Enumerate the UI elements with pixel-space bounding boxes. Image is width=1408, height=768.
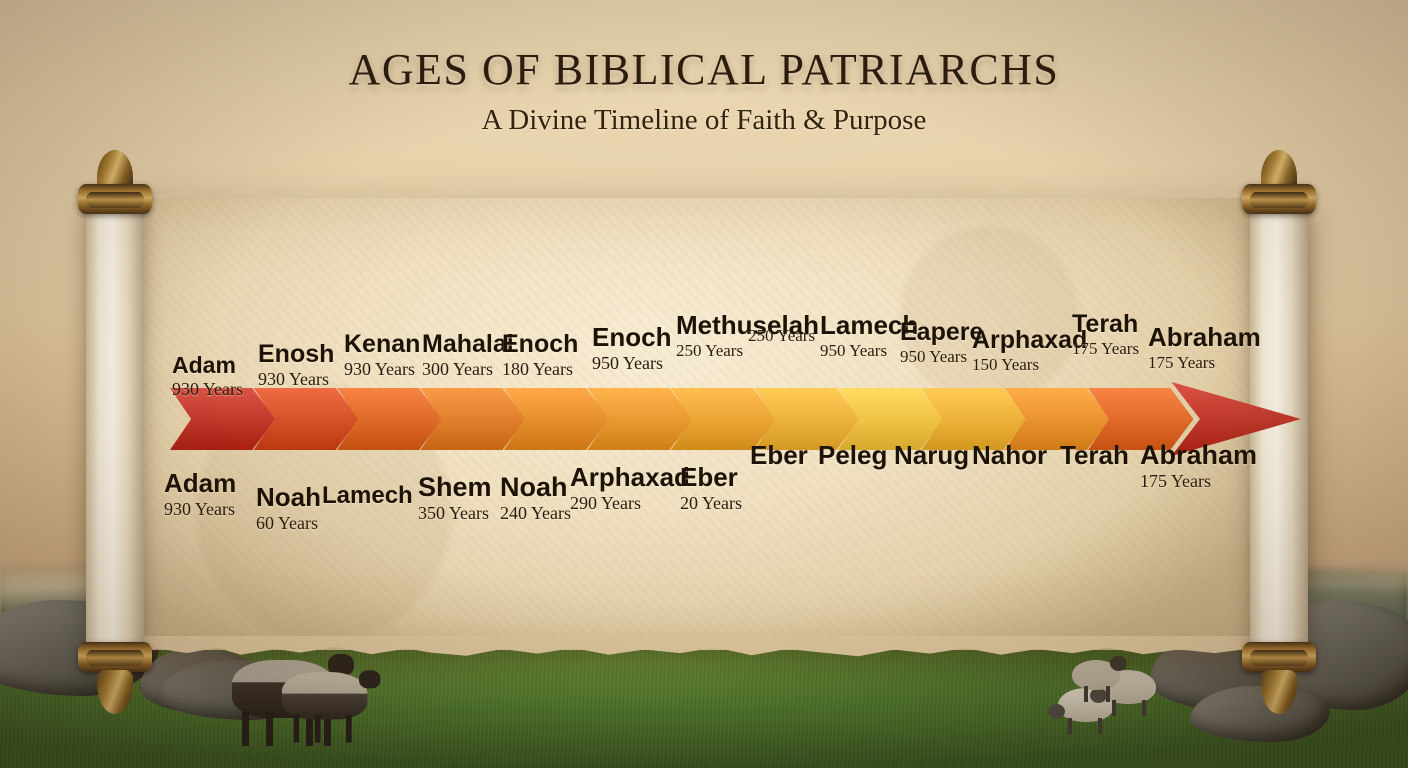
patriarch-years: 150 Years xyxy=(972,355,1087,375)
timeline-label-bottom: Noah240 Years xyxy=(500,472,571,524)
scroll-roll-paper-left xyxy=(86,212,144,652)
timeline-label-top: 250 Years xyxy=(748,326,815,346)
timeline-label-bottom: Terah xyxy=(1060,440,1129,471)
timeline-label-top: Kenan930 Years xyxy=(344,330,420,380)
parchment-torn-bottom-edge xyxy=(110,636,1298,662)
timeline-label-bottom: Shem350 Years xyxy=(418,472,492,524)
patriarch-name: Narug xyxy=(894,440,969,471)
patriarch-name: Adam xyxy=(172,352,243,379)
timeline-label-top: Abraham175 Years xyxy=(1148,322,1261,373)
patriarch-name: Mahalal xyxy=(422,330,514,359)
patriarch-years: 20 Years xyxy=(680,493,742,514)
patriarch-name: Terah xyxy=(1060,440,1129,471)
patriarch-years: 175 Years xyxy=(1148,353,1261,373)
page-title: AGES OF BIBLICAL PATRIARCHS xyxy=(0,44,1408,95)
patriarch-name: Enoch xyxy=(502,330,578,359)
timeline-label-bottom: Abraham175 Years xyxy=(1140,440,1257,492)
patriarch-name: Arphaxad xyxy=(972,326,1087,355)
patriarch-years: 930 Years xyxy=(344,359,420,380)
patriarch-name: Adam xyxy=(164,468,236,499)
timeline-label-top: Terah175 Years xyxy=(1072,310,1139,359)
patriarch-years: 60 Years xyxy=(256,513,321,534)
timeline-label-top: Enoch180 Years xyxy=(502,330,578,380)
timeline-label-bottom: Adam930 Years xyxy=(164,468,236,520)
patriarch-name: Arphaxad xyxy=(570,462,690,493)
patriarch-name: Peleg xyxy=(818,440,887,471)
patriarch-years: 950 Years xyxy=(592,353,671,374)
patriarch-years: 180 Years xyxy=(502,359,578,380)
timeline-label-bottom: Nahor xyxy=(972,440,1047,471)
page-subtitle: A Divine Timeline of Faith & Purpose xyxy=(0,104,1408,137)
timeline-label-top: Eapere950 Years xyxy=(900,318,983,367)
timeline-label-bottom: Peleg xyxy=(818,440,887,471)
poster-canvas: AGES OF BIBLICAL PATRIARCHS A Divine Tim… xyxy=(0,0,1408,768)
scroll-roller-left xyxy=(78,150,152,710)
timeline-label-bottom: Eber xyxy=(750,440,808,471)
patriarch-name: Enosh xyxy=(258,340,334,369)
patriarch-name: Nahor xyxy=(972,440,1047,471)
timeline-label-top: Adam930 Years xyxy=(172,352,243,400)
patriarch-years: 950 Years xyxy=(900,347,983,367)
patriarch-years: 290 Years xyxy=(570,493,690,514)
timeline-label-bottom: Noah60 Years xyxy=(256,482,321,534)
patriarch-name: Noah xyxy=(500,472,571,503)
patriarch-name: Abraham xyxy=(1148,322,1261,353)
patriarch-name: Terah xyxy=(1072,310,1139,339)
timeline-label-bottom: Eber20 Years xyxy=(680,462,742,514)
patriarch-years: 930 Years xyxy=(164,499,236,520)
patriarch-name: Kenan xyxy=(344,330,420,359)
timeline-label-bottom: Lamech xyxy=(322,482,413,510)
patriarch-years: 175 Years xyxy=(1072,339,1139,359)
timeline-label-bottom: Narug xyxy=(894,440,969,471)
timeline-label-top: Enosh930 Years xyxy=(258,340,334,390)
patriarch-name: Enoch xyxy=(592,322,671,353)
patriarch-name: Eber xyxy=(750,440,808,471)
patriarch-years: 350 Years xyxy=(418,503,492,524)
patriarch-years: 240 Years xyxy=(500,503,571,524)
timeline-label-bottom: Arphaxad290 Years xyxy=(570,462,690,514)
patriarch-years: 250 Years xyxy=(748,326,815,346)
patriarch-years: 175 Years xyxy=(1140,471,1257,492)
patriarch-name: Eber xyxy=(680,462,742,493)
patriarch-name: Eapere xyxy=(900,318,983,347)
patriarch-name: Shem xyxy=(418,472,492,503)
patriarch-years: 930 Years xyxy=(172,379,243,400)
patriarch-years: 930 Years xyxy=(258,369,334,390)
timeline-label-top: Enoch950 Years xyxy=(592,322,671,374)
patriarch-years: 300 Years xyxy=(422,359,514,380)
patriarch-name: Noah xyxy=(256,482,321,513)
patriarch-name: Lamech xyxy=(322,482,413,510)
timeline-label-top: Mahalal300 Years xyxy=(422,330,514,380)
scroll-roll-paper-right xyxy=(1250,212,1308,652)
patriarch-name: Abraham xyxy=(1140,440,1257,471)
timeline-label-top: Arphaxad150 Years xyxy=(972,326,1087,375)
